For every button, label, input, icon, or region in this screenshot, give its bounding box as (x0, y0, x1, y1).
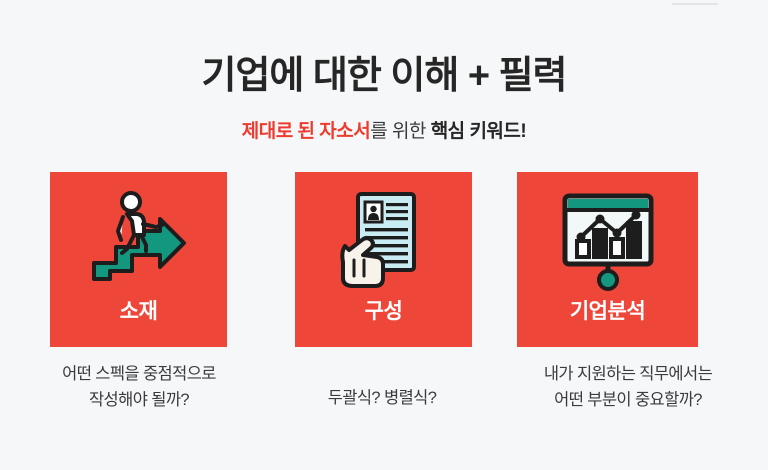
slide-canvas: 기업에 대한 이해 + 필력 제대로 된 자소서를 위한 핵심 키워드! (0, 0, 768, 470)
card-label-sojae: 소재 (120, 295, 158, 325)
subtitle-middle-text: 를 위한 (370, 121, 431, 142)
card-group: 소재 (50, 172, 718, 347)
caption-gieopbunseok: 내가 지원하는 직무에서는 어떤 부분이 중요할까? (494, 362, 762, 413)
card-guseong[interactable]: 구성 (295, 172, 472, 347)
caption-gieopbunseok-line2: 어떤 부분이 중요할까? (494, 388, 762, 414)
page-title: 기업에 대한 이해 + 필력 (0, 44, 768, 99)
caption-guseong-line1: 두괄식? 병렬식? (268, 386, 496, 412)
subtitle-strong-text: 핵심 키워드 (431, 121, 521, 142)
caption-guseong: 두괄식? 병렬식? (268, 386, 496, 412)
caption-sojae: 어떤 스펙을 중점적으로 작성해야 될까? (8, 362, 270, 413)
caption-sojae-line1: 어떤 스펙을 중점적으로 (8, 362, 270, 388)
page-subtitle: 제대로 된 자소서를 위한 핵심 키워드! (0, 116, 768, 143)
card-sojae[interactable]: 소재 (50, 172, 227, 347)
subtitle-suffix-text: ! (520, 121, 526, 142)
presentation-chart-board-icon (556, 188, 660, 293)
caption-gieopbunseok-line1: 내가 지원하는 직무에서는 (494, 362, 762, 388)
stairs-arrow-person-icon (86, 188, 191, 293)
hand-holding-resume-icon (335, 188, 433, 293)
subtitle-accent-text: 제대로 된 자소서 (242, 121, 370, 142)
card-label-guseong: 구성 (365, 295, 403, 325)
caption-sojae-line2: 작성해야 될까? (8, 388, 270, 414)
caption-group: 어떤 스펙을 중점적으로 작성해야 될까? 두괄식? 병렬식? 내가 지원하는 … (0, 362, 768, 432)
card-label-gieopbunseok: 기업분석 (570, 295, 645, 325)
top-divider-line (672, 3, 718, 5)
card-gieopbunseok[interactable]: 기업분석 (517, 172, 698, 347)
